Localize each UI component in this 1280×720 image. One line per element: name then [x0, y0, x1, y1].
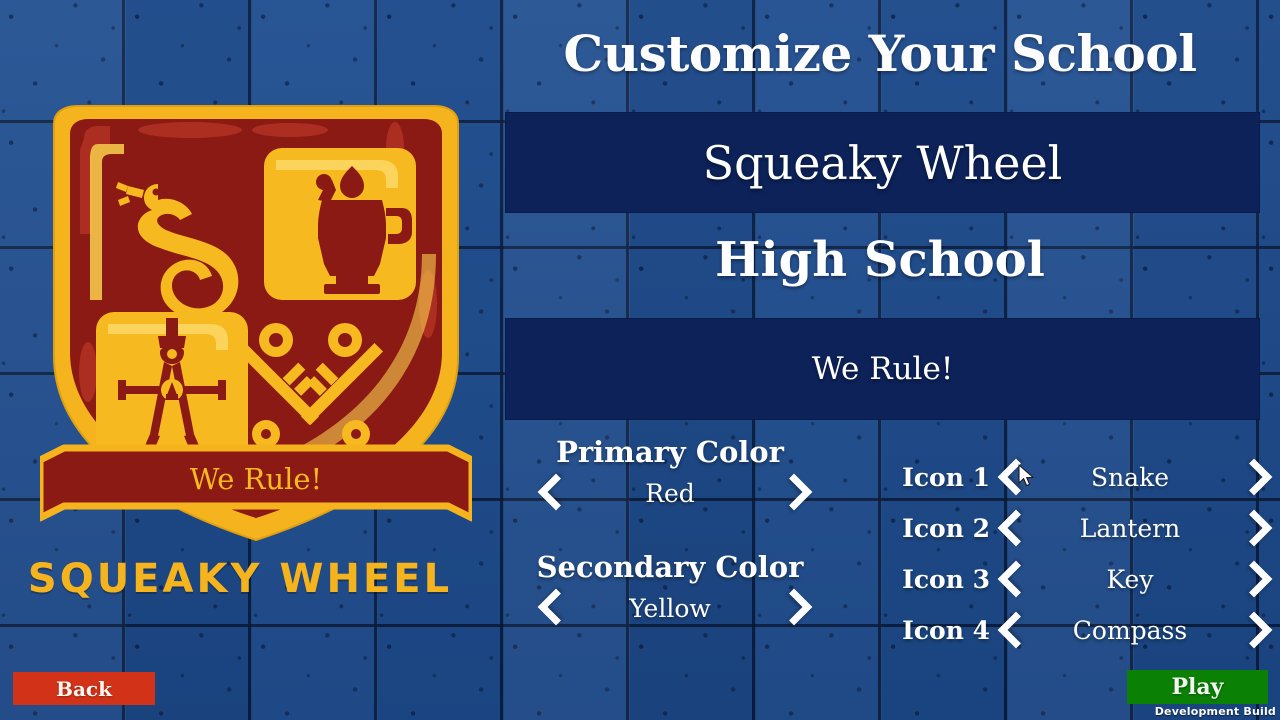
icon-slot-row: Icon 1 Snake: [870, 452, 1270, 503]
chevron-right-icon[interactable]: [1234, 562, 1264, 598]
customize-form-panel: Customize Your School Squeaky Wheel High…: [480, 0, 1280, 720]
icon-slot-value: Lantern: [1032, 514, 1228, 543]
primary-color-selector: Primary Color Red: [500, 438, 840, 511]
chevron-right-icon[interactable]: [1234, 511, 1264, 547]
chevron-left-icon[interactable]: [996, 562, 1026, 598]
secondary-color-selector: Secondary Color Yellow: [500, 553, 840, 626]
chevron-right-icon[interactable]: [774, 590, 804, 626]
school-crest: We Rule!: [40, 104, 472, 544]
secondary-color-label: Secondary Color: [500, 553, 840, 582]
icon-slot-label: Icon 2: [870, 514, 990, 543]
development-build-watermark: Development Build: [1155, 705, 1276, 718]
primary-color-label: Primary Color: [500, 438, 840, 467]
chevron-left-icon[interactable]: [996, 511, 1026, 547]
secondary-color-value: Yellow: [566, 594, 774, 623]
chevron-right-icon[interactable]: [774, 475, 804, 511]
icon-slot-list: Icon 1 Snake Icon 2 Lantern Icon 3 Key I…: [870, 452, 1270, 656]
icon-slot-label: Icon 1: [870, 463, 990, 492]
school-name-input[interactable]: Squeaky Wheel: [505, 112, 1260, 213]
chevron-left-icon[interactable]: [996, 613, 1026, 649]
primary-color-value: Red: [566, 479, 774, 508]
icon-slot-value: Key: [1032, 565, 1228, 594]
page-title: Customize Your School: [480, 24, 1280, 83]
icon-slot-row: Icon 3 Key: [870, 554, 1270, 605]
back-button[interactable]: Back: [13, 672, 155, 705]
crest-preview-panel: We Rule! SQUEAKY WHEEL: [0, 0, 480, 720]
school-suffix-label: High School: [480, 232, 1280, 288]
school-motto-value: We Rule!: [505, 318, 1260, 420]
primary-color-row: Red: [500, 475, 840, 511]
icon-slot-value: Compass: [1032, 616, 1228, 645]
chevron-right-icon[interactable]: [1234, 460, 1264, 496]
play-button[interactable]: Play: [1127, 670, 1268, 704]
icon-slot-label: Icon 3: [870, 565, 990, 594]
icon-slot-row: Icon 2 Lantern: [870, 503, 1270, 554]
mouse-cursor: [1018, 464, 1036, 488]
school-wordmark: SQUEAKY WHEEL: [0, 556, 480, 602]
chevron-right-icon[interactable]: [1234, 613, 1264, 649]
icon-slot-value: Snake: [1032, 463, 1228, 492]
icon-slot-row: Icon 4 Compass: [870, 605, 1270, 656]
chevron-left-icon[interactable]: [536, 475, 566, 511]
secondary-color-row: Yellow: [500, 590, 840, 626]
crest-motto-text: We Rule!: [40, 462, 472, 496]
school-name-value: Squeaky Wheel: [505, 112, 1260, 213]
chevron-left-icon[interactable]: [536, 590, 566, 626]
icon-slot-label: Icon 4: [870, 616, 990, 645]
school-motto-input[interactable]: We Rule!: [505, 318, 1260, 420]
